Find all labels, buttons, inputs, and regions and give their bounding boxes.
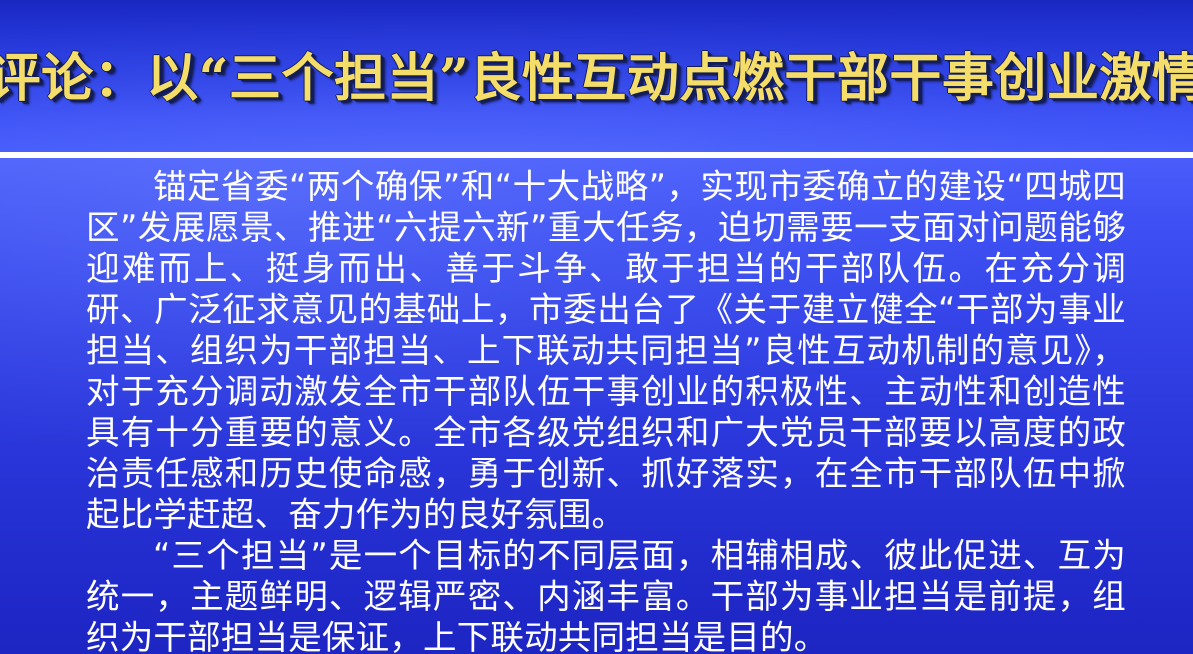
body-panel: 锚定省委“两个确保”和“十大战略”，实现市委确立的建设“四城四区”发展愿景、推进… [0, 158, 1193, 654]
header-divider [0, 152, 1193, 158]
title-container: 评论：以“三个担当”良性互动点燃干部干事创业激情 [0, 0, 1193, 152]
presentation-slide: 评论：以“三个担当”良性互动点燃干部干事创业激情 锚定省委“两个确保”和“十大战… [0, 0, 1193, 654]
page-title: 评论：以“三个担当”良性互动点燃干部干事创业激情 [0, 47, 1193, 105]
article-body: 锚定省委“两个确保”和“十大战略”，实现市委确立的建设“四城四区”发展愿景、推进… [86, 166, 1126, 654]
body-paragraph-1: 锚定省委“两个确保”和“十大战略”，实现市委确立的建设“四城四区”发展愿景、推进… [86, 166, 1126, 535]
body-paragraph-2: “三个担当”是一个目标的不同层面，相辅相成、彼此促进、互为统一，主题鲜明、逻辑严… [86, 535, 1126, 654]
